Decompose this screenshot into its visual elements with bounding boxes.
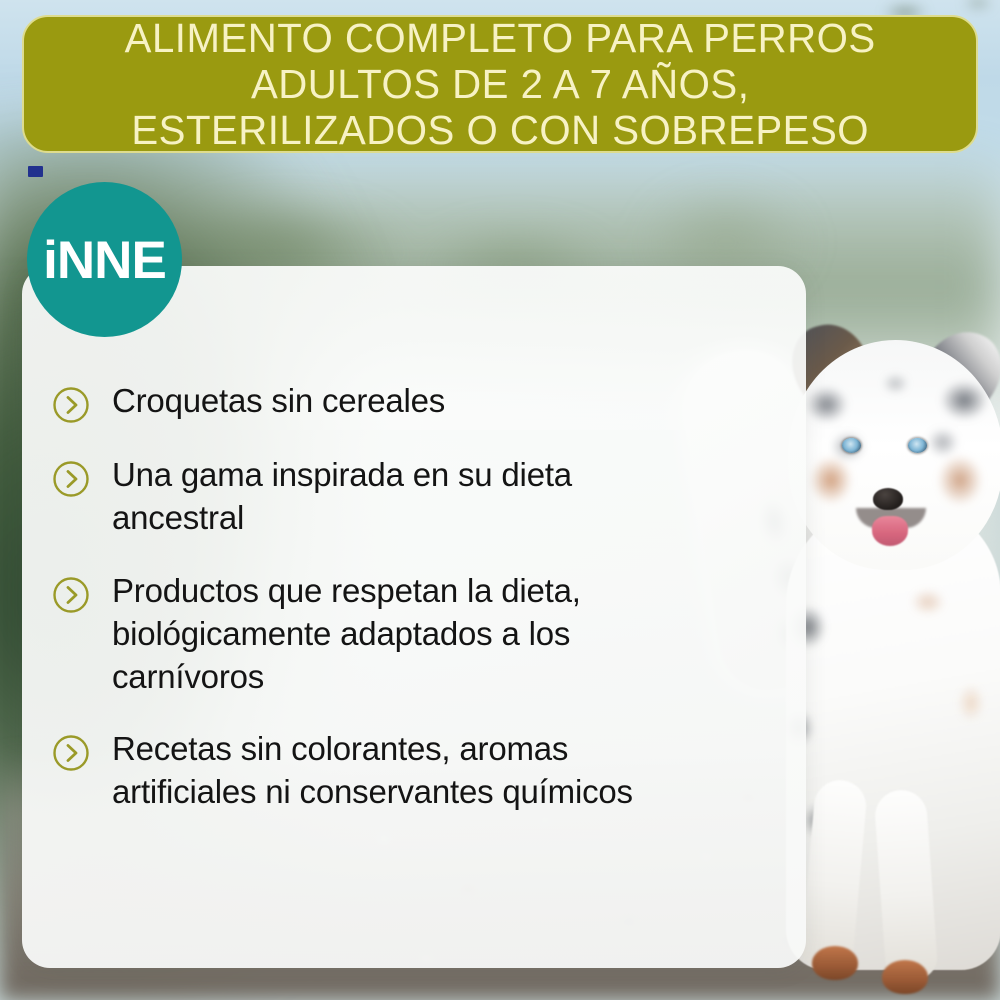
dog-nose <box>873 488 903 510</box>
dog-eye-right <box>908 438 927 453</box>
list-item-label: Productos que respetan la dieta, biológi… <box>112 570 581 699</box>
list-item-label: Croquetas sin cereales <box>112 380 445 423</box>
brand-logo-wordmark: iNNE <box>43 234 166 287</box>
list-item: Una gama inspirada en su dieta ancestral <box>52 454 752 540</box>
feature-list: Croquetas sin cereales Una gama inspirad… <box>52 380 752 814</box>
dog-tongue <box>872 516 908 546</box>
list-item: Croquetas sin cereales <box>52 380 752 424</box>
dog-paw-right <box>882 960 928 994</box>
list-item-label: Una gama inspirada en su dieta ancestral <box>112 454 572 540</box>
chevron-right-circle-icon <box>52 734 90 772</box>
chevron-right-circle-icon <box>52 576 90 614</box>
list-item: Recetas sin colorantes, aromas artificia… <box>52 728 752 814</box>
brand-logo: iNNE <box>27 182 182 337</box>
headline-text: ALIMENTO COMPLETO PARA PERROS ADULTOS DE… <box>124 15 875 154</box>
chevron-right-circle-icon <box>52 460 90 498</box>
headline-banner: ALIMENTO COMPLETO PARA PERROS ADULTOS DE… <box>22 15 978 153</box>
list-item-label: Recetas sin colorantes, aromas artificia… <box>112 728 633 814</box>
list-item: Productos que respetan la dieta, biológi… <box>52 570 752 699</box>
brand-logo-i-dot <box>28 166 43 177</box>
chevron-right-circle-icon <box>52 386 90 424</box>
dog-eye-left <box>842 438 861 453</box>
dog-paw-left <box>812 946 858 980</box>
promo-poster: ALIMENTO COMPLETO PARA PERROS ADULTOS DE… <box>0 0 1000 1000</box>
